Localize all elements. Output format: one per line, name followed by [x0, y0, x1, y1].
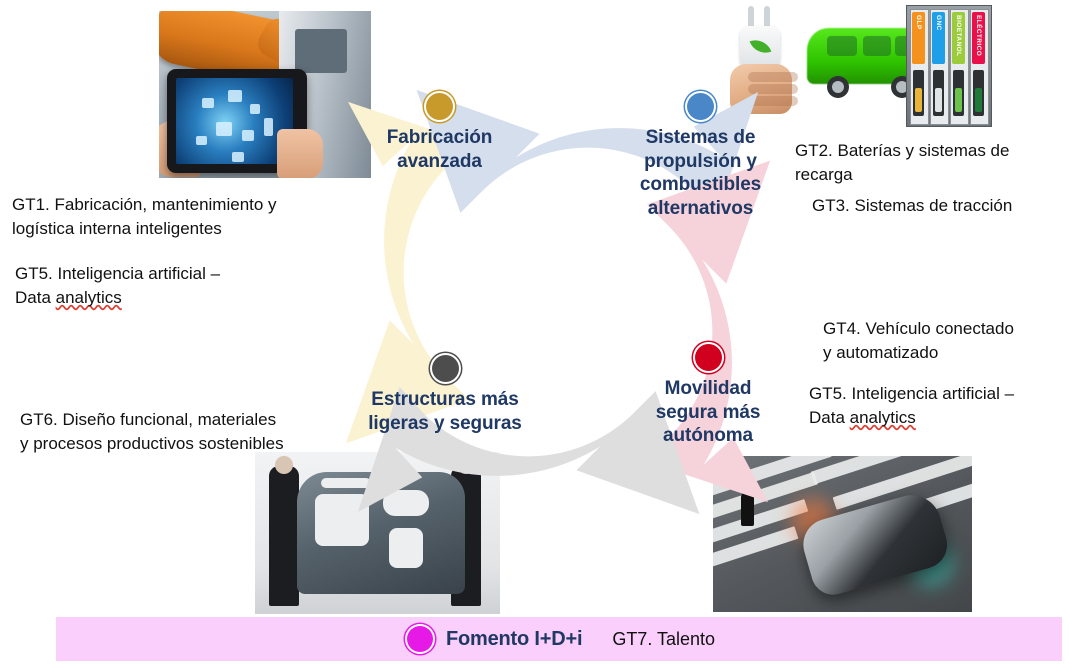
tablet-screen-shape	[176, 78, 293, 164]
segment-label-a[interactable]: A Sistemas de propulsión y combustibles …	[618, 93, 783, 220]
fuel-pump-glp: GLP	[910, 9, 929, 125]
fuel-pump-gnc: GNC	[930, 9, 949, 125]
fuel-pump-electrico: ELÉCTRICO	[970, 9, 989, 125]
badge-a: A	[687, 93, 714, 120]
annotation-gt6: GT6. Diseño funcional, materiales y proc…	[20, 408, 350, 456]
annotation-gt7: GT7. Talento	[612, 629, 715, 650]
pump-label-gnc: GNC	[935, 15, 942, 31]
fuel-pump-bioetanol: BIOETANOL	[950, 9, 969, 125]
segment-label-c[interactable]: C Estructuras más ligeras y seguras	[348, 355, 542, 435]
segment-label-b[interactable]: B Movilidad segura más autónoma	[628, 344, 788, 448]
pump-label-bioetanol: BIOETANOL	[955, 15, 962, 56]
badge-c: C	[432, 355, 459, 382]
annotation-gt5-right: GT5. Inteligencia artificial – Data anal…	[809, 382, 1067, 430]
spellcheck-squiggle-text: analytics	[56, 288, 122, 307]
segment-title-a: Sistemas de propulsión y combustibles al…	[618, 126, 783, 220]
bottom-bar[interactable]: E Fomento I+D+i GT7. Talento	[56, 617, 1062, 661]
bottom-bar-title: Fomento I+D+i	[446, 628, 582, 651]
van-window-shape	[863, 36, 891, 56]
badge-e: E	[407, 626, 433, 652]
person-left-shape	[269, 466, 299, 606]
segment-title-c: Estructuras más ligeras y seguras	[348, 388, 542, 435]
annotation-gt5-left: GT5. Inteligencia artificial – Data anal…	[15, 262, 315, 310]
annotation-gt3: GT3. Sistemas de tracción	[812, 194, 1064, 218]
annotation-gt1: GT1. Fabricación, mantenimiento y logíst…	[12, 193, 330, 241]
pump-label-glp: GLP	[915, 15, 922, 30]
segment-label-d[interactable]: D Fabricación avanzada	[357, 93, 522, 173]
van-wheel-shape	[827, 76, 849, 98]
diagram-canvas: GLP GNC BIOETANOL ELÉCTRICO	[0, 0, 1069, 669]
annotation-gt4: GT4. Vehículo conectado y automatizado	[823, 317, 1068, 365]
fuel-pumps-photo: GLP GNC BIOETANOL ELÉCTRICO	[906, 5, 992, 127]
spellcheck-squiggle-text: analytics	[850, 408, 916, 427]
pump-label-electrico: ELÉCTRICO	[975, 15, 982, 56]
segment-title-b: Movilidad segura más autónoma	[628, 377, 788, 448]
van-window-shape	[827, 36, 857, 56]
badge-b: B	[695, 344, 722, 371]
segment-title-d: Fabricación avanzada	[357, 126, 522, 173]
badge-d: D	[426, 93, 453, 120]
annotation-gt2: GT2. Baterías y sistemas de recarga	[795, 139, 1063, 187]
